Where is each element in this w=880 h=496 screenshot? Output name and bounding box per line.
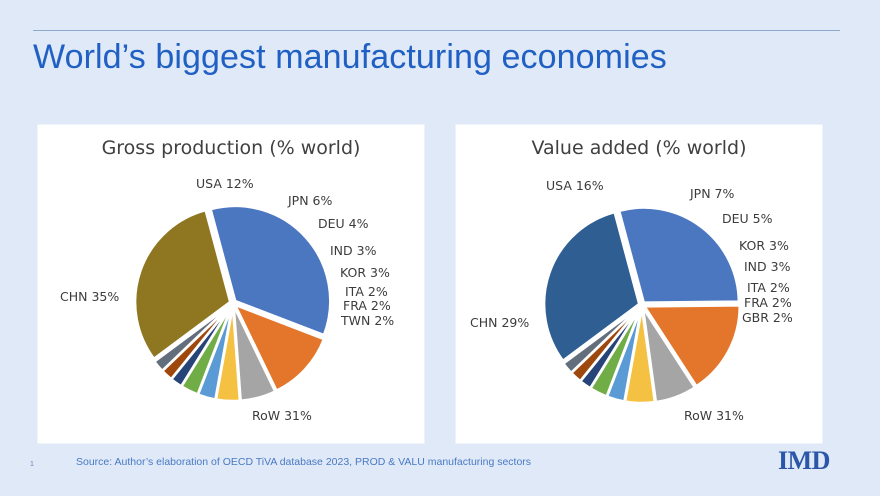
- pie-label-gross-row: RoW 31%: [252, 408, 312, 423]
- pie-label-gross-usa: USA 12%: [196, 176, 254, 191]
- page-number: 1: [30, 461, 34, 468]
- pie-label-gross-ind: IND 3%: [330, 243, 376, 258]
- pie-label-gross-twn: TWN 2%: [341, 313, 394, 328]
- pie-label-value-chn: CHN 29%: [470, 315, 529, 330]
- pie-label-value-jpn: JPN 7%: [690, 186, 734, 201]
- title-divider: [33, 30, 840, 31]
- pie-label-gross-fra: FRA 2%: [343, 298, 391, 313]
- source-note: Source: Author’s elaboration of OECD TiV…: [76, 456, 531, 468]
- pie-label-gross-kor: KOR 3%: [340, 265, 390, 280]
- pie-label-value-kor: KOR 3%: [739, 238, 789, 253]
- imd-logo: IMD: [778, 446, 830, 476]
- pie-label-gross-jpn: JPN 6%: [288, 193, 332, 208]
- pie-label-value-ita: ITA 2%: [747, 280, 790, 295]
- pie-label-gross-ita: ITA 2%: [345, 284, 388, 299]
- pie-label-gross-chn: CHN 35%: [60, 289, 119, 304]
- pie-label-value-deu: DEU 5%: [722, 211, 772, 226]
- pie-slice: [619, 208, 739, 303]
- slide-canvas: World’s biggest manufacturing economies …: [0, 0, 880, 496]
- pie-label-value-row: RoW 31%: [684, 408, 744, 423]
- pie-label-value-ind: IND 3%: [744, 259, 790, 274]
- pie-label-value-usa: USA 16%: [546, 178, 604, 193]
- pie-label-gross-deu: DEU 4%: [318, 216, 368, 231]
- pie-label-value-fra: FRA 2%: [744, 295, 792, 310]
- pie-label-value-gbr: GBR 2%: [742, 310, 793, 325]
- page-title: World’s biggest manufacturing economies: [33, 38, 667, 77]
